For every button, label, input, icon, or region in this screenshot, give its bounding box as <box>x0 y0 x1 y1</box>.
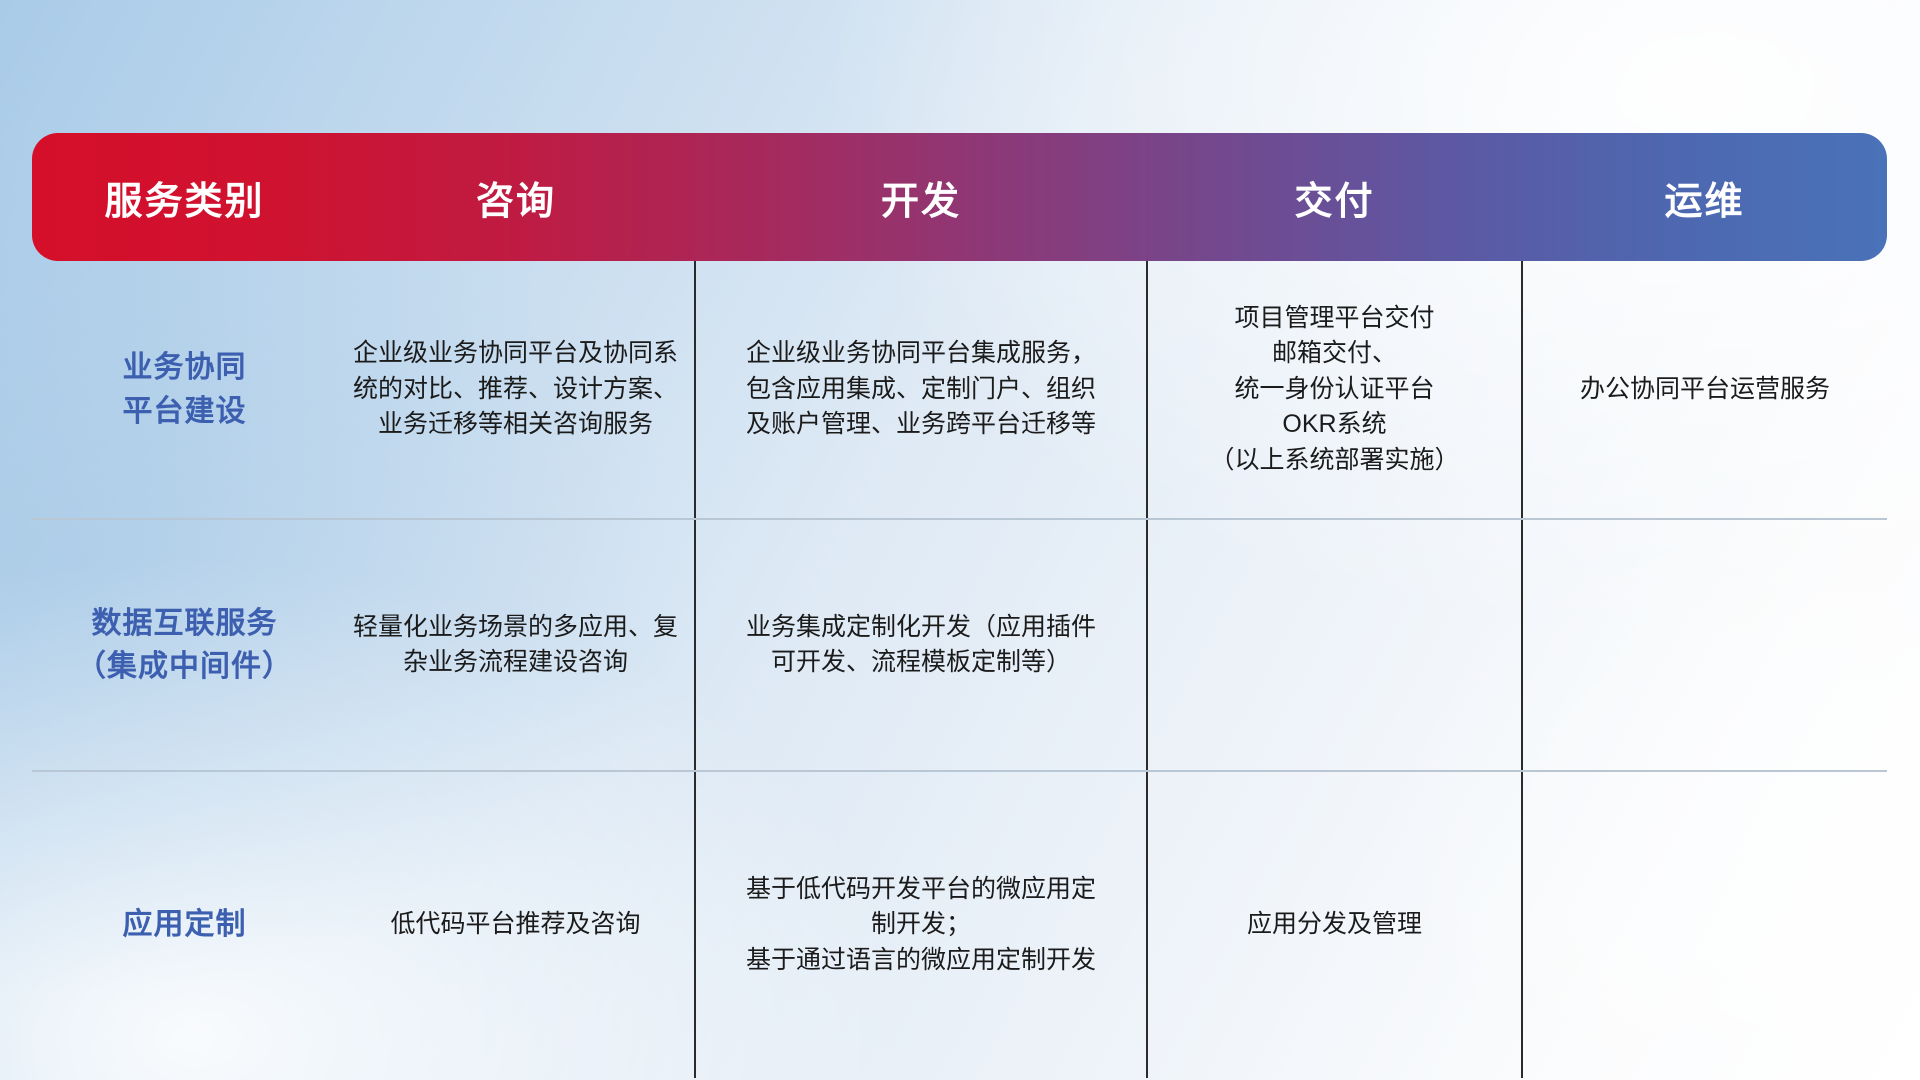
cell-consulting: 低代码平台推荐及咨询 <box>337 771 695 1078</box>
cell-development: 业务集成定制化开发（应用插件 可开发、流程模板定制等） <box>695 519 1147 771</box>
header-label-delivery: 交付 <box>1294 181 1374 223</box>
matrix-table: 服务类别 咨询 开发 交付 运维 <box>32 133 1887 1078</box>
cell-delivery: 项目管理平台交付 邮箱交付、 统一身份认证平台 OKR系统 （以上系统部署实施） <box>1147 261 1522 519</box>
table-row: 业务协同 平台建设 企业级业务协同平台及协同系 统的对比、推荐、设计方案、 业务… <box>32 261 1887 519</box>
cell-development: 企业级业务协同平台集成服务， 包含应用集成、定制门户、组织 及账户管理、业务跨平… <box>695 261 1147 519</box>
cell-development: 基于低代码开发平台的微应用定 制开发； 基于通过语言的微应用定制开发 <box>695 771 1147 1078</box>
cell-delivery <box>1147 519 1522 771</box>
service-matrix-table: 服务类别 咨询 开发 交付 运维 <box>32 133 1887 950</box>
header-label-operations: 运维 <box>1664 181 1744 223</box>
table-row: 数据互联服务 （集成中间件） 轻量化业务场景的多应用、复 杂业务流程建设咨询 业… <box>32 519 1887 771</box>
slide-canvas: 服务类别 咨询 开发 交付 运维 <box>0 0 1920 1080</box>
header-label-development: 开发 <box>881 181 961 223</box>
cell-consulting: 轻量化业务场景的多应用、复 杂业务流程建设咨询 <box>337 519 695 771</box>
row-category-label: 应用定制 <box>32 771 337 1078</box>
cell-operations <box>1522 519 1887 771</box>
header-cell-operations: 运维 <box>1522 133 1887 261</box>
table-row: 应用定制 低代码平台推荐及咨询 基于低代码开发平台的微应用定 制开发； 基于通过… <box>32 771 1887 1078</box>
header-cell-development: 开发 <box>695 133 1147 261</box>
header-cell-category: 服务类别 <box>32 133 337 261</box>
cell-delivery: 应用分发及管理 <box>1147 771 1522 1078</box>
table-body: 业务协同 平台建设 企业级业务协同平台及协同系 统的对比、推荐、设计方案、 业务… <box>32 261 1887 1078</box>
header-cell-delivery: 交付 <box>1147 133 1522 261</box>
header-cell-consulting: 咨询 <box>337 133 695 261</box>
table-header: 服务类别 咨询 开发 交付 运维 <box>32 133 1887 261</box>
cell-operations: 办公协同平台运营服务 <box>1522 261 1887 519</box>
header-label-consulting: 咨询 <box>476 181 556 223</box>
cell-consulting: 企业级业务协同平台及协同系 统的对比、推荐、设计方案、 业务迁移等相关咨询服务 <box>337 261 695 519</box>
row-category-label: 数据互联服务 （集成中间件） <box>32 519 337 771</box>
header-row: 服务类别 咨询 开发 交付 运维 <box>32 133 1887 261</box>
row-category-label: 业务协同 平台建设 <box>32 261 337 519</box>
header-label-category: 服务类别 <box>104 181 264 223</box>
cell-operations <box>1522 771 1887 1078</box>
